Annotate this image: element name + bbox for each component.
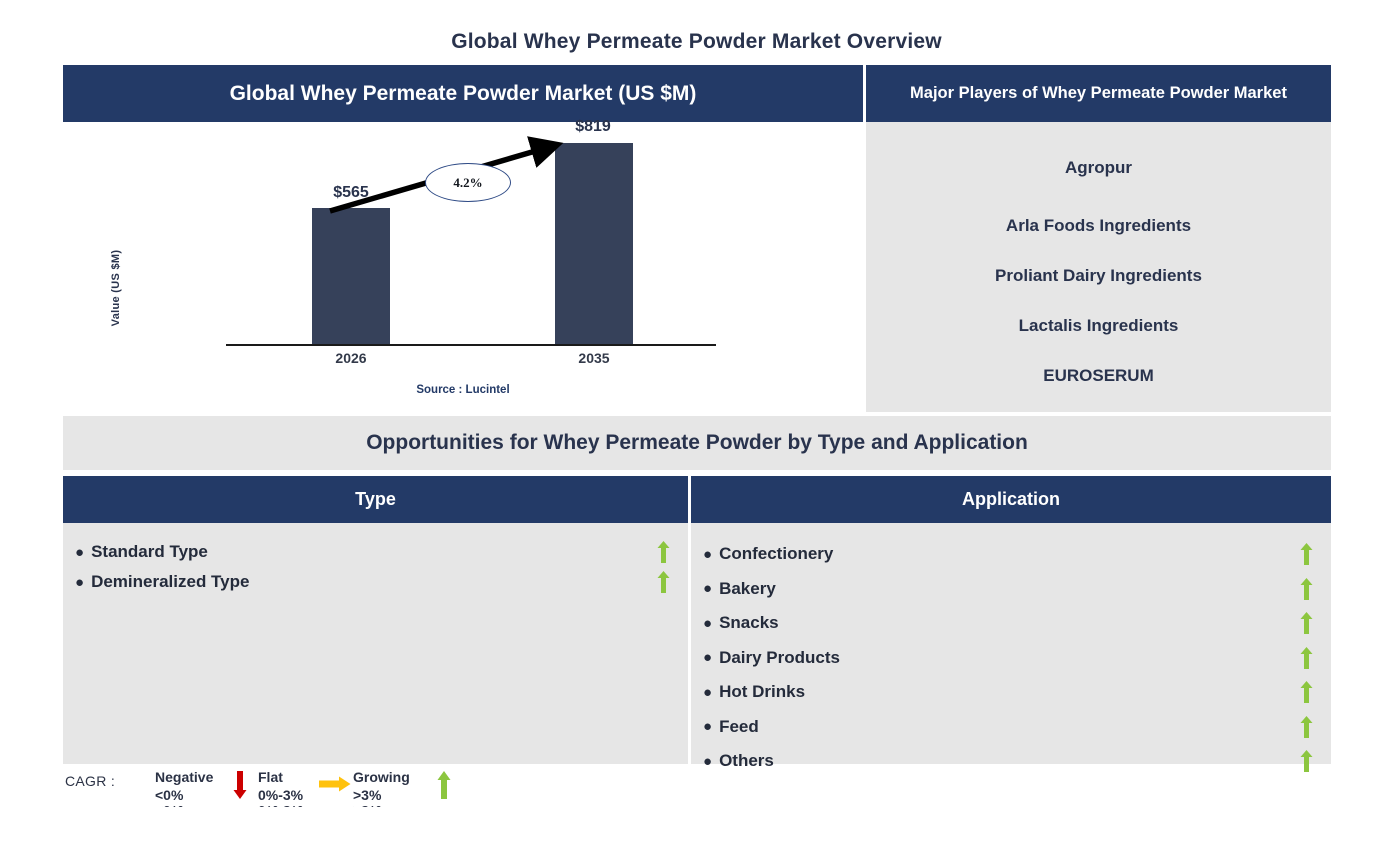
- list-item: Agropur: [866, 158, 1331, 178]
- up-arrow-icon: [1300, 750, 1313, 772]
- down-arrow-icon: [233, 771, 247, 799]
- legend-negative-range: <0%: [155, 786, 213, 804]
- list-item: ● Confectionery: [691, 537, 1331, 572]
- up-arrow-icon: [1300, 647, 1313, 669]
- up-arrow-icon: [657, 541, 670, 563]
- list-item: ● Hot Drinks: [691, 675, 1331, 710]
- bullet-icon: ●: [703, 616, 712, 631]
- clipped-negative-range: <0%: [155, 806, 183, 810]
- right-arrow-icon: [319, 776, 351, 792]
- up-arrow-icon: [1300, 578, 1313, 600]
- list-item: Lactalis Ingredients: [866, 316, 1331, 336]
- up-arrow-icon: [1300, 716, 1313, 738]
- bullet-icon: ●: [703, 719, 712, 734]
- list-item: EUROSERUM: [866, 366, 1331, 386]
- bullet-icon: ●: [703, 754, 712, 769]
- application-item-label: Others: [719, 751, 774, 771]
- clipped-row: <0% 0%-3% >3%: [63, 806, 493, 818]
- application-item-label: Bakery: [719, 579, 776, 599]
- list-item: Proliant Dairy Ingredients: [866, 266, 1331, 286]
- up-arrow-icon: [1300, 681, 1313, 703]
- type-items-list: ● Standard Type ● Demineralized Type: [63, 523, 688, 764]
- list-item: ● Demineralized Type: [63, 567, 688, 597]
- type-column-header: Type: [63, 476, 688, 523]
- list-item: ● Dairy Products: [691, 641, 1331, 676]
- type-item-label: Standard Type: [91, 542, 208, 562]
- bullet-icon: ●: [703, 547, 712, 562]
- list-item: ● Others: [691, 744, 1331, 779]
- bullet-icon: ●: [75, 545, 84, 560]
- list-item: ● Snacks: [691, 606, 1331, 641]
- up-arrow-icon: [657, 571, 670, 593]
- x-tick-2026: 2026: [291, 350, 411, 366]
- bar-chart: Value (US $M) $565 $819 2026 2035 4.2% S…: [63, 122, 863, 412]
- application-items-list: ● Confectionery ● Bakery ● Snacks: [691, 523, 1331, 764]
- legend-entry-growing: Growing >3%: [353, 768, 410, 804]
- list-item: ● Bakery: [691, 572, 1331, 607]
- legend-entry-flat: Flat 0%-3%: [258, 768, 303, 804]
- legend-growing-name: Growing: [353, 768, 410, 786]
- legend-negative-name: Negative: [155, 768, 213, 786]
- cagr-legend-clipped-duplicate: <0% 0%-3% >3%: [63, 806, 493, 830]
- page-title: Global Whey Permeate Powder Market Overv…: [0, 30, 1393, 54]
- cagr-legend-label: CAGR :: [65, 773, 115, 789]
- x-tick-2035: 2035: [534, 350, 654, 366]
- players-list: Agropur Arla Foods Ingredients Proliant …: [866, 122, 1331, 412]
- players-card-header: Major Players of Whey Permeate Powder Ma…: [866, 65, 1331, 122]
- bullet-icon: ●: [75, 575, 84, 590]
- type-item-label: Demineralized Type: [91, 572, 249, 592]
- opportunities-application-column: Application ● Confectionery ● Bakery ● S…: [691, 476, 1331, 764]
- legend-flat-name: Flat: [258, 768, 303, 786]
- application-column-header: Application: [691, 476, 1331, 523]
- application-item-label: Confectionery: [719, 544, 833, 564]
- list-item: ● Standard Type: [63, 537, 688, 567]
- clipped-flat-range: 0%-3%: [258, 806, 303, 810]
- clipped-growing-range: >3%: [353, 806, 381, 810]
- list-item: Arla Foods Ingredients: [866, 216, 1331, 236]
- chart-x-axis: [226, 344, 716, 346]
- legend-entry-negative: Negative <0%: [155, 768, 213, 804]
- bullet-icon: ●: [703, 650, 712, 665]
- application-item-label: Feed: [719, 717, 759, 737]
- slide-canvas: Global Whey Permeate Powder Market Overv…: [0, 0, 1393, 868]
- chart-card-header: Global Whey Permeate Powder Market (US $…: [63, 65, 863, 122]
- major-players-card: Major Players of Whey Permeate Powder Ma…: [866, 65, 1331, 412]
- up-arrow-icon: [437, 771, 451, 799]
- list-item: ● Feed: [691, 710, 1331, 745]
- bullet-icon: ●: [703, 581, 712, 596]
- opportunities-banner: Opportunities for Whey Permeate Powder b…: [63, 416, 1331, 470]
- cagr-bubble: 4.2%: [425, 163, 511, 202]
- chart-y-axis-label: Value (US $M): [110, 228, 122, 348]
- legend-flat-range: 0%-3%: [258, 786, 303, 804]
- legend-growing-range: >3%: [353, 786, 410, 804]
- application-item-label: Dairy Products: [719, 648, 840, 668]
- market-chart-card: Global Whey Permeate Powder Market (US $…: [63, 65, 863, 412]
- bullet-icon: ●: [703, 685, 712, 700]
- chart-source-note: Source : Lucintel: [63, 384, 863, 396]
- application-item-label: Hot Drinks: [719, 682, 805, 702]
- up-arrow-icon: [1300, 543, 1313, 565]
- application-item-label: Snacks: [719, 613, 779, 633]
- opportunities-type-column: Type ● Standard Type ● Demineralized Typ…: [63, 476, 688, 764]
- up-arrow-icon: [1300, 612, 1313, 634]
